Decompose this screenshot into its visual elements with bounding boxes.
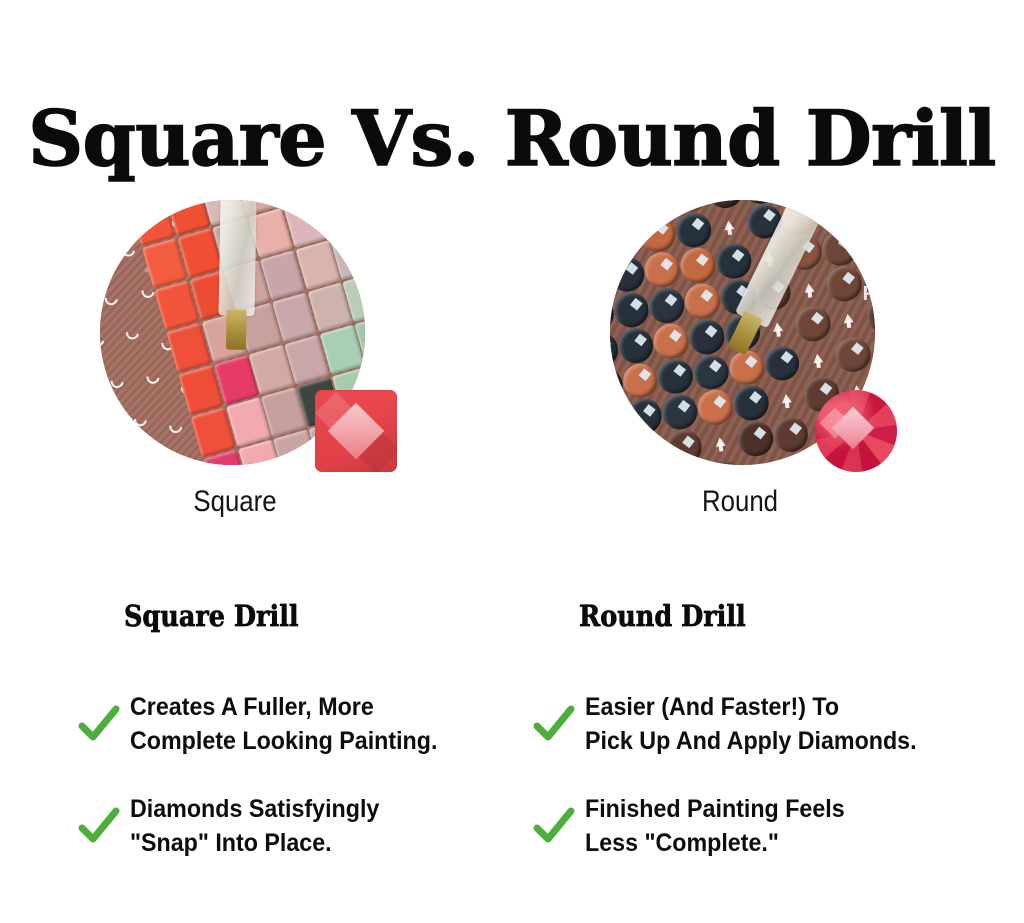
canvas-letter-f: F [863,284,875,304]
round-gem-swatch [815,390,897,472]
list-item-label: Diamonds Satisfyingly "Snap" Into Place. [130,792,509,860]
check-icon [533,704,575,746]
page-title: Square Vs. Round Drill [0,98,1024,180]
check-icon [78,806,120,848]
photo-caption-round: Round [611,485,869,519]
photo-cell-round: E F [610,200,910,470]
check-icon [78,704,120,746]
photo-cell-square [100,200,400,470]
list-item: Diamonds Satisfyingly "Snap" Into Place. [78,792,538,864]
applicator-pen [219,200,258,316]
column-heading-square: Square Drill [124,600,488,632]
photo-caption-square: Square [106,485,364,519]
column-round-drill: Round Drill Easier (And Faster!) To Pick… [533,600,993,894]
photo-comparison-row: E F [0,200,1024,470]
list-item: Easier (And Faster!) To Pick Up And Appl… [533,690,993,762]
infographic-page: Square Vs. Round Drill [0,0,1024,923]
square-gem-swatch [315,390,397,472]
column-square-drill: Square Drill Creates A Fuller, More Comp… [78,600,538,894]
list-item: Finished Painting Feels Less "Complete." [533,792,993,864]
list-item: Creates A Fuller, More Complete Looking … [78,690,538,762]
check-icon [533,806,575,848]
canvas-letter-e: E [862,256,875,276]
column-heading-round: Round Drill [579,600,943,632]
list-item-label: Easier (And Faster!) To Pick Up And Appl… [585,690,964,758]
list-item-label: Finished Painting Feels Less "Complete." [585,792,964,860]
list-item-label: Creates A Fuller, More Complete Looking … [130,690,509,758]
